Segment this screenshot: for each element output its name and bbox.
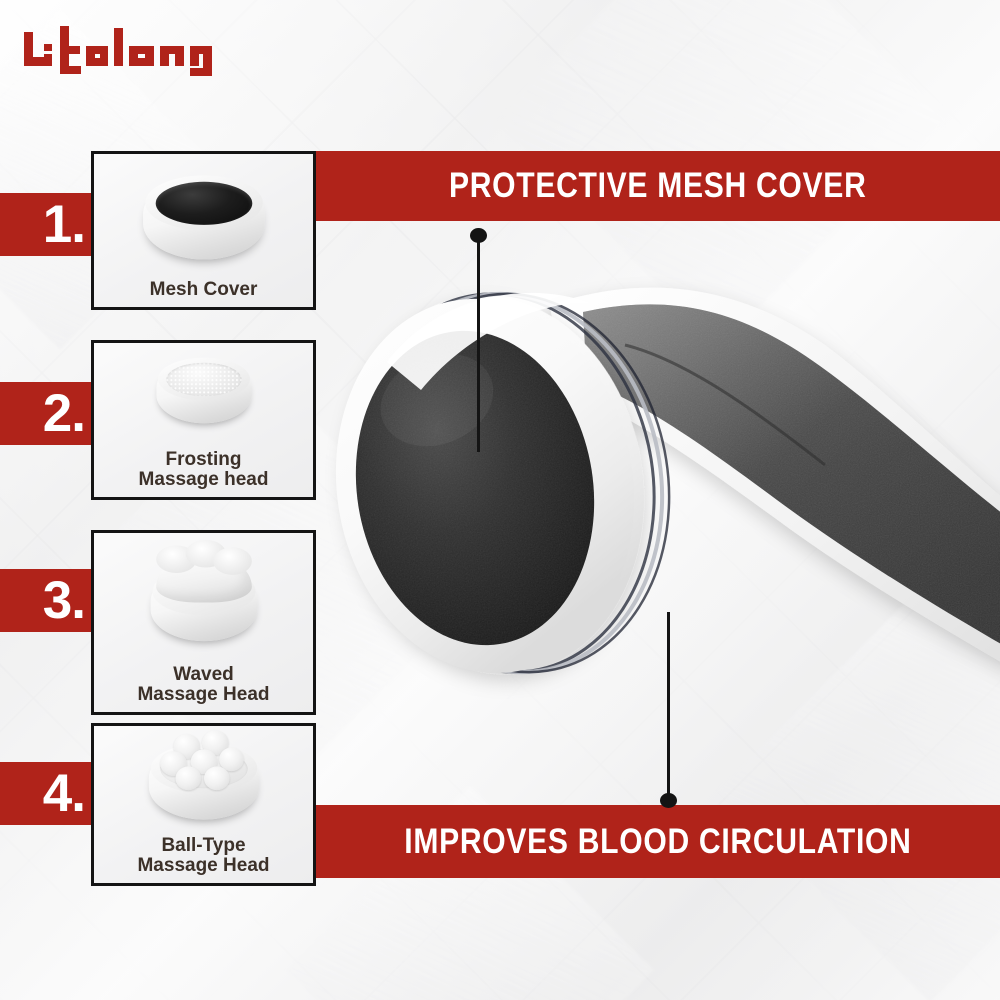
mesh-cover-attachment-image bbox=[94, 154, 313, 280]
feature-card-label-3: Waved Massage Head bbox=[94, 665, 313, 712]
banner-protective-mesh-cover: PROTECTIVE MESH COVER bbox=[316, 151, 1000, 221]
feature-card-mesh-cover[interactable]: Mesh Cover bbox=[91, 151, 316, 310]
ball-type-massage-head-attachment-image bbox=[94, 726, 313, 836]
mesh-cover-callout-dot bbox=[470, 228, 487, 243]
feature-number-badge-1: 1. bbox=[0, 193, 98, 256]
product-image-massager bbox=[325, 250, 1000, 740]
feature-card-label-2: Frosting Massage head bbox=[94, 450, 313, 497]
blood-circulation-callout-line bbox=[667, 612, 670, 802]
lifelong-logo bbox=[22, 22, 212, 80]
feature-number-badge-4: 4. bbox=[0, 762, 98, 825]
feature-card-label-1: Mesh Cover bbox=[94, 280, 313, 307]
feature-card-frosting-massage-head[interactable]: Frosting Massage head bbox=[91, 340, 316, 500]
banner-top-text: PROTECTIVE MESH COVER bbox=[449, 166, 867, 206]
feature-number-badge-2: 2. bbox=[0, 382, 98, 445]
feature-card-label-4: Ball-Type Massage Head bbox=[94, 836, 313, 883]
blood-circulation-callout-dot bbox=[660, 793, 677, 808]
infographic-canvas: PROTECTIVE MESH COVER IMPROVES BLOOD CIR… bbox=[0, 0, 1000, 1000]
frosting-massage-head-attachment-image bbox=[94, 343, 313, 450]
mesh-cover-callout-line bbox=[477, 240, 480, 452]
feature-card-ball-type-massage-head[interactable]: Ball-Type Massage Head bbox=[91, 723, 316, 886]
banner-bottom-text: IMPROVES BLOOD CIRCULATION bbox=[404, 822, 911, 862]
feature-card-waved-massage-head[interactable]: Waved Massage Head bbox=[91, 530, 316, 715]
banner-improves-blood-circulation: IMPROVES BLOOD CIRCULATION bbox=[316, 805, 1000, 878]
waved-massage-head-attachment-image bbox=[94, 533, 313, 665]
feature-number-badge-3: 3. bbox=[0, 569, 98, 632]
